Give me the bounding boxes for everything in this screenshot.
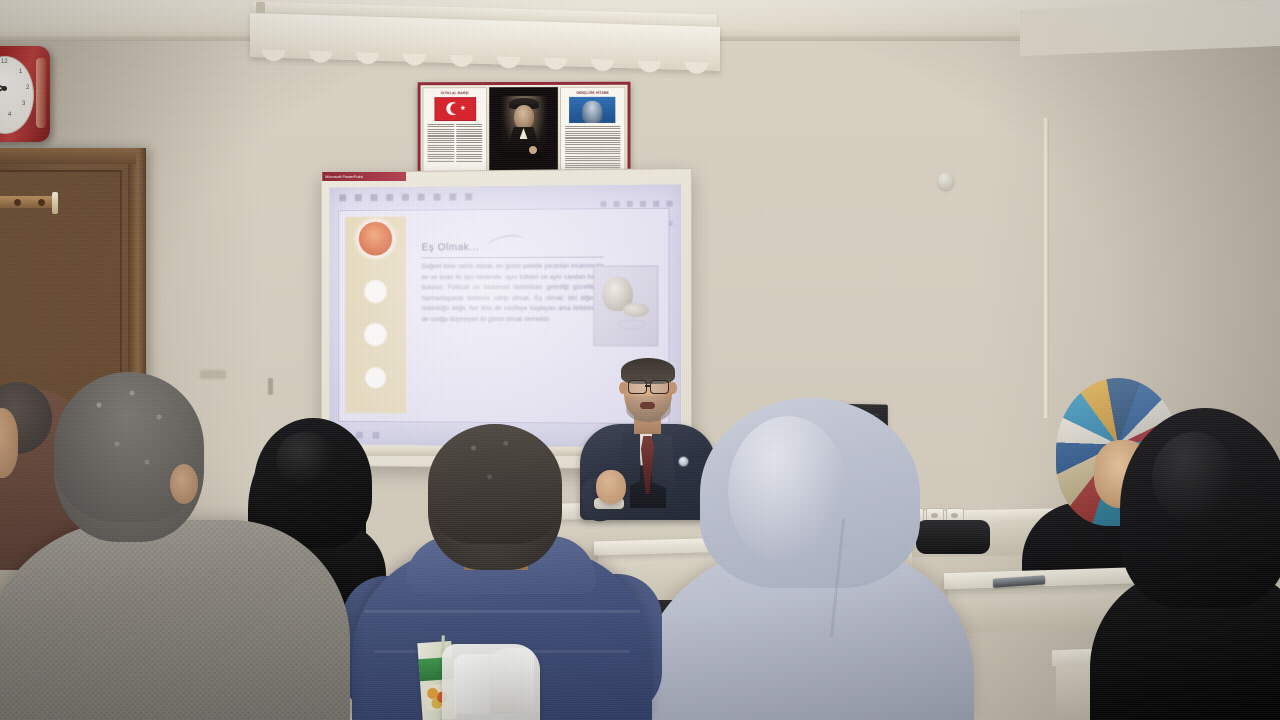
coat-hook-icon <box>14 199 21 206</box>
clock-tick: 12 <box>1 59 8 65</box>
tweed-texture <box>0 520 350 720</box>
wall-clock: 12 1 2 3 4 5 <box>0 46 50 142</box>
powerpoint-titlebar: Microsoft PowerPoint <box>322 172 406 181</box>
gray-man-ear <box>170 464 198 504</box>
hijab-highlight <box>1152 432 1236 524</box>
gray-jacket-man <box>0 372 350 720</box>
panel-ataturk-portrait: MUSTAFA KEMAL ATATÜRK <box>489 87 558 177</box>
institution-seal-icon <box>356 219 395 259</box>
door-top-rail <box>0 148 136 164</box>
panel-text-lines-right <box>565 126 621 171</box>
slide-photo <box>593 265 658 346</box>
panel-istiklal-marsi: İSTİKLAL MARŞI ★ <box>423 87 488 177</box>
ataturk-hand <box>528 146 536 154</box>
ataturk-portrait-icon <box>501 96 547 158</box>
wall-sensor-icon <box>938 172 954 190</box>
headscarf-sheen <box>728 416 848 566</box>
blue-man-hair <box>428 424 562 544</box>
turkish-flag-icon: ★ <box>434 97 476 121</box>
panel-title-right: GENÇLİĞE HİTABE <box>576 91 608 95</box>
classroom-scene: 12 1 2 3 4 5 İSTİKLAL MARŞI ★ <box>0 0 1280 720</box>
presenter-ear <box>669 382 677 394</box>
clock-tick: 3 <box>22 101 25 107</box>
clock-side-glint <box>36 58 46 128</box>
slide-title-underline <box>422 257 604 259</box>
door-glint <box>52 192 58 214</box>
panel-title-left: İSTİKLAL MARŞI <box>441 91 469 95</box>
coat-hook-strip <box>0 196 56 208</box>
clock-tick: 4 <box>8 112 11 118</box>
panel-text-lines-left <box>427 124 482 162</box>
slide-title: Eş Olmak... <box>422 242 480 253</box>
clock-tick: 2 <box>26 85 29 91</box>
coat-hook-icon <box>38 199 45 206</box>
eyeglasses-icon <box>650 380 669 394</box>
slide-body-text: Değerli birer varlık olarak, en güzel şe… <box>422 262 604 326</box>
cable-conduit <box>1043 118 1049 418</box>
presenter-ear <box>619 382 627 394</box>
panel-genclige-hitabe: GENÇLİĞE HİTABE <box>560 87 625 177</box>
bag-fold <box>490 648 534 714</box>
plastic-bag[interactable] <box>442 644 540 720</box>
wedding-ring-icon <box>619 319 645 330</box>
hitabe-bust <box>583 101 603 123</box>
wall-panel-national: İSTİKLAL MARŞI ★ MUSTAFA KEMAL ATATÜRK <box>418 82 631 183</box>
slide-decorative-flourish <box>484 233 526 256</box>
clock-center-pin <box>2 86 7 91</box>
clock-tick: 1 <box>19 69 22 75</box>
slide-photo-hand <box>623 303 649 317</box>
eyeglasses-icon <box>628 380 647 394</box>
lavender-hijab-woman <box>640 398 970 720</box>
ataturk-face <box>514 105 534 129</box>
puffer-seam <box>364 610 640 613</box>
flag-star-icon: ★ <box>460 105 466 112</box>
eyeglasses-bridge <box>645 385 650 387</box>
black-hijab-woman-right <box>1100 408 1280 720</box>
ataturk-bust-icon <box>570 97 616 123</box>
